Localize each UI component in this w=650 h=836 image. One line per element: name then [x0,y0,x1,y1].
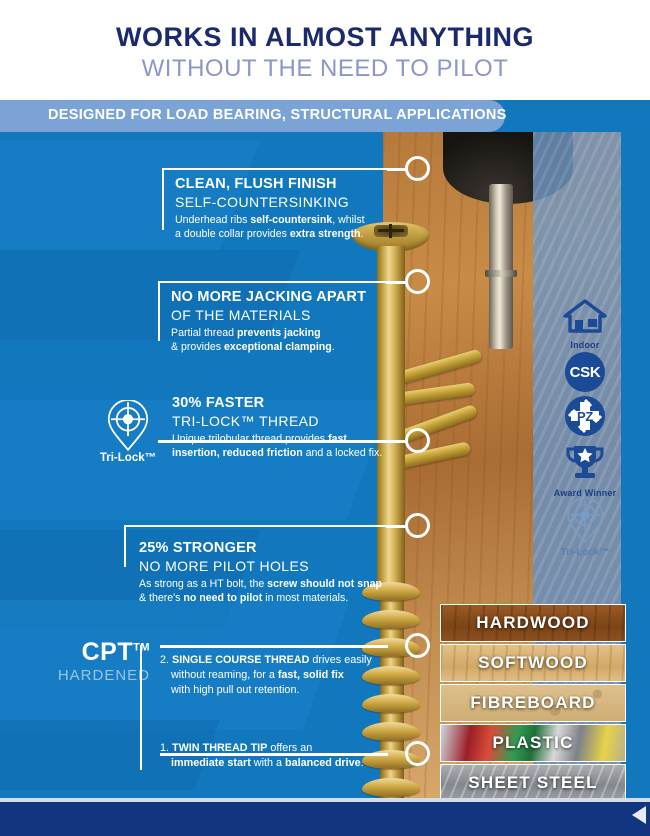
badge-label: Award Winner [552,488,618,498]
trilock-badge-left: Tri-Lock™ [97,400,159,464]
pozidriv-icon: PZ [565,396,605,436]
callout-title: 25% STRONGER [139,540,384,558]
badge-text: CSK [570,364,601,381]
callout-marker[interactable] [405,269,430,294]
material-bar-hardwood[interactable]: HARDWOOD [440,604,626,642]
note-text: drives easily [309,654,371,666]
body-text: Partial thread [171,327,237,339]
material-bar-softwood[interactable]: SOFTWOOD [440,644,626,682]
body-text: . [361,228,364,240]
badge-indoor[interactable]: Indoor [552,298,618,350]
callout-body: As strong as a HT bolt, the screw should… [139,578,384,606]
callout-leadline [160,645,388,648]
note-single-course-thread: 2. SINGLE COURSE THREAD drives easily wi… [160,653,400,698]
material-label: SOFTWOOD [441,645,625,681]
callout-body: Partial thread prevents jacking & provid… [171,327,401,355]
badge-award[interactable]: Award Winner [552,442,618,498]
note-body: 1. TWIN THREAD TIP offers an immediate s… [160,741,405,771]
body-text: & provides [171,341,224,353]
callout-marker[interactable] [405,513,430,538]
trilock-target-icon [564,498,606,544]
subtitle-banner: DESIGNED FOR LOAD BEARING, STRUCTURAL AP… [0,100,505,132]
body-text: and a locked fix. [303,447,383,459]
body-text: Unique trilobular thread provides [172,433,328,445]
callout-marker[interactable] [405,741,430,766]
callout-title: NO MORE JACKING APART [171,289,401,307]
material-bar-plastic[interactable]: PLASTIC [440,724,626,762]
note-text: . [361,757,364,769]
note-number: 1. [160,742,169,754]
body-strong: extra strength [290,228,361,240]
body-strong: exceptional clamping [224,341,332,353]
banner-text: DESIGNED FOR LOAD BEARING, STRUCTURAL AP… [48,107,507,123]
note-number: 2. [160,654,169,666]
note-twin-thread-tip: 1. TWIN THREAD TIP offers an immediate s… [160,741,405,771]
cpt-logo-sub: HARDENED [22,667,150,684]
note-strong: fast, solid fix [278,669,344,681]
note-strong: balanced drive [285,757,361,769]
csk-circle-icon: CSK [565,352,605,392]
body-text: , whilst [332,214,364,226]
callout-title: 30% FASTER [172,395,402,413]
body-strong: fast [328,433,347,445]
material-bar-fibreboard[interactable]: FIBREBOARD [440,684,626,722]
callout-title: CLEAN, FLUSH FINISH [175,176,400,194]
material-label: FIBREBOARD [441,685,625,721]
body-strong: no need to pilot [183,592,262,604]
main-panel: Indoor CSK PZ [0,100,650,836]
callout-marker[interactable] [405,428,430,453]
trilock-target-icon [104,400,152,452]
note-strong: TWIN THREAD TIP [172,742,267,754]
note-text: with high pull out retention. [171,684,299,696]
body-strong: prevents jacking [237,327,321,339]
callout-body: Underhead ribs self-countersink, whilst … [175,214,400,242]
body-text: & there's [139,592,183,604]
note-body: 2. SINGLE COURSE THREAD drives easily wi… [160,653,400,698]
page-header: WORKS IN ALMOST ANYTHING WITHOUT THE NEE… [0,0,650,100]
note-text: offers an [267,742,312,754]
infographic-page: WORKS IN ALMOST ANYTHING WITHOUT THE NEE… [0,0,650,836]
callout-marker[interactable] [405,156,430,181]
body-text: in most materials. [262,592,348,604]
body-text: a double collar provides [175,228,290,240]
callout-tri-lock-thread: 30% FASTER TRI-LOCK™ THREAD Unique trilo… [172,395,402,461]
badge-label: Indoor [552,340,618,350]
thread-flight [362,610,420,629]
callout-subtitle: SELF-COUNTERSINKING [175,194,400,211]
headline-primary: WORKS IN ALMOST ANYTHING [0,22,650,53]
trilock-badge-right: Tri-Lock™ [552,498,618,558]
cpt-logo-main: CPTTM [22,640,150,665]
callout-no-more-pilot-holes: 25% STRONGER NO MORE PILOT HOLES As stro… [139,540,384,606]
note-text: with a [251,757,285,769]
cpt-text: CPT [82,638,134,666]
trilock-caption: Tri-Lock™ [552,547,618,558]
callout-subtitle: TRI-LOCK™ THREAD [172,413,402,430]
callout-marker[interactable] [405,633,430,658]
callout-clean-flush-finish: CLEAN, FLUSH FINISH SELF-COUNTERSINKING … [175,176,400,242]
body-strong: screw should not snap [267,578,382,590]
body-strong: self-countersink [250,214,332,226]
cpt-logo: CPTTM HARDENED [22,640,150,684]
note-text: without reaming, for a [171,669,278,681]
material-label: PLASTIC [441,725,625,761]
body-text: As strong as a HT bolt, the [139,578,267,590]
footer-bar [0,802,650,836]
drill-bit [489,184,513,349]
arrow-icon [632,806,646,824]
note-strong: SINGLE COURSE THREAD [172,654,309,666]
trophy-icon [562,442,608,482]
note-strong: immediate start [171,757,251,769]
material-label: SHEET STEEL [441,765,625,801]
trilock-caption: Tri-Lock™ [97,452,159,464]
badge-csk[interactable]: CSK [552,352,618,392]
callout-subtitle: OF THE MATERIALS [171,307,401,324]
headline-secondary: WITHOUT THE NEED TO PILOT [0,55,650,83]
badge-pz[interactable]: PZ [552,396,618,436]
body-strong: insertion, reduced friction [172,447,303,459]
callout-body: Unique trilobular thread provides fast i… [172,433,402,461]
body-text: Underhead ribs [175,214,250,226]
badge-column: Indoor CSK PZ [552,298,618,500]
callout-subtitle: NO MORE PILOT HOLES [139,558,384,575]
thread-flight [362,778,420,797]
badge-text: PZ [577,409,593,424]
callout-no-more-jacking-apart: NO MORE JACKING APART OF THE MATERIALS P… [171,289,401,355]
material-label: HARDWOOD [441,605,625,641]
body-text: . [332,341,335,353]
material-bar-sheet-steel[interactable]: SHEET STEEL [440,764,626,802]
house-icon [562,298,608,334]
